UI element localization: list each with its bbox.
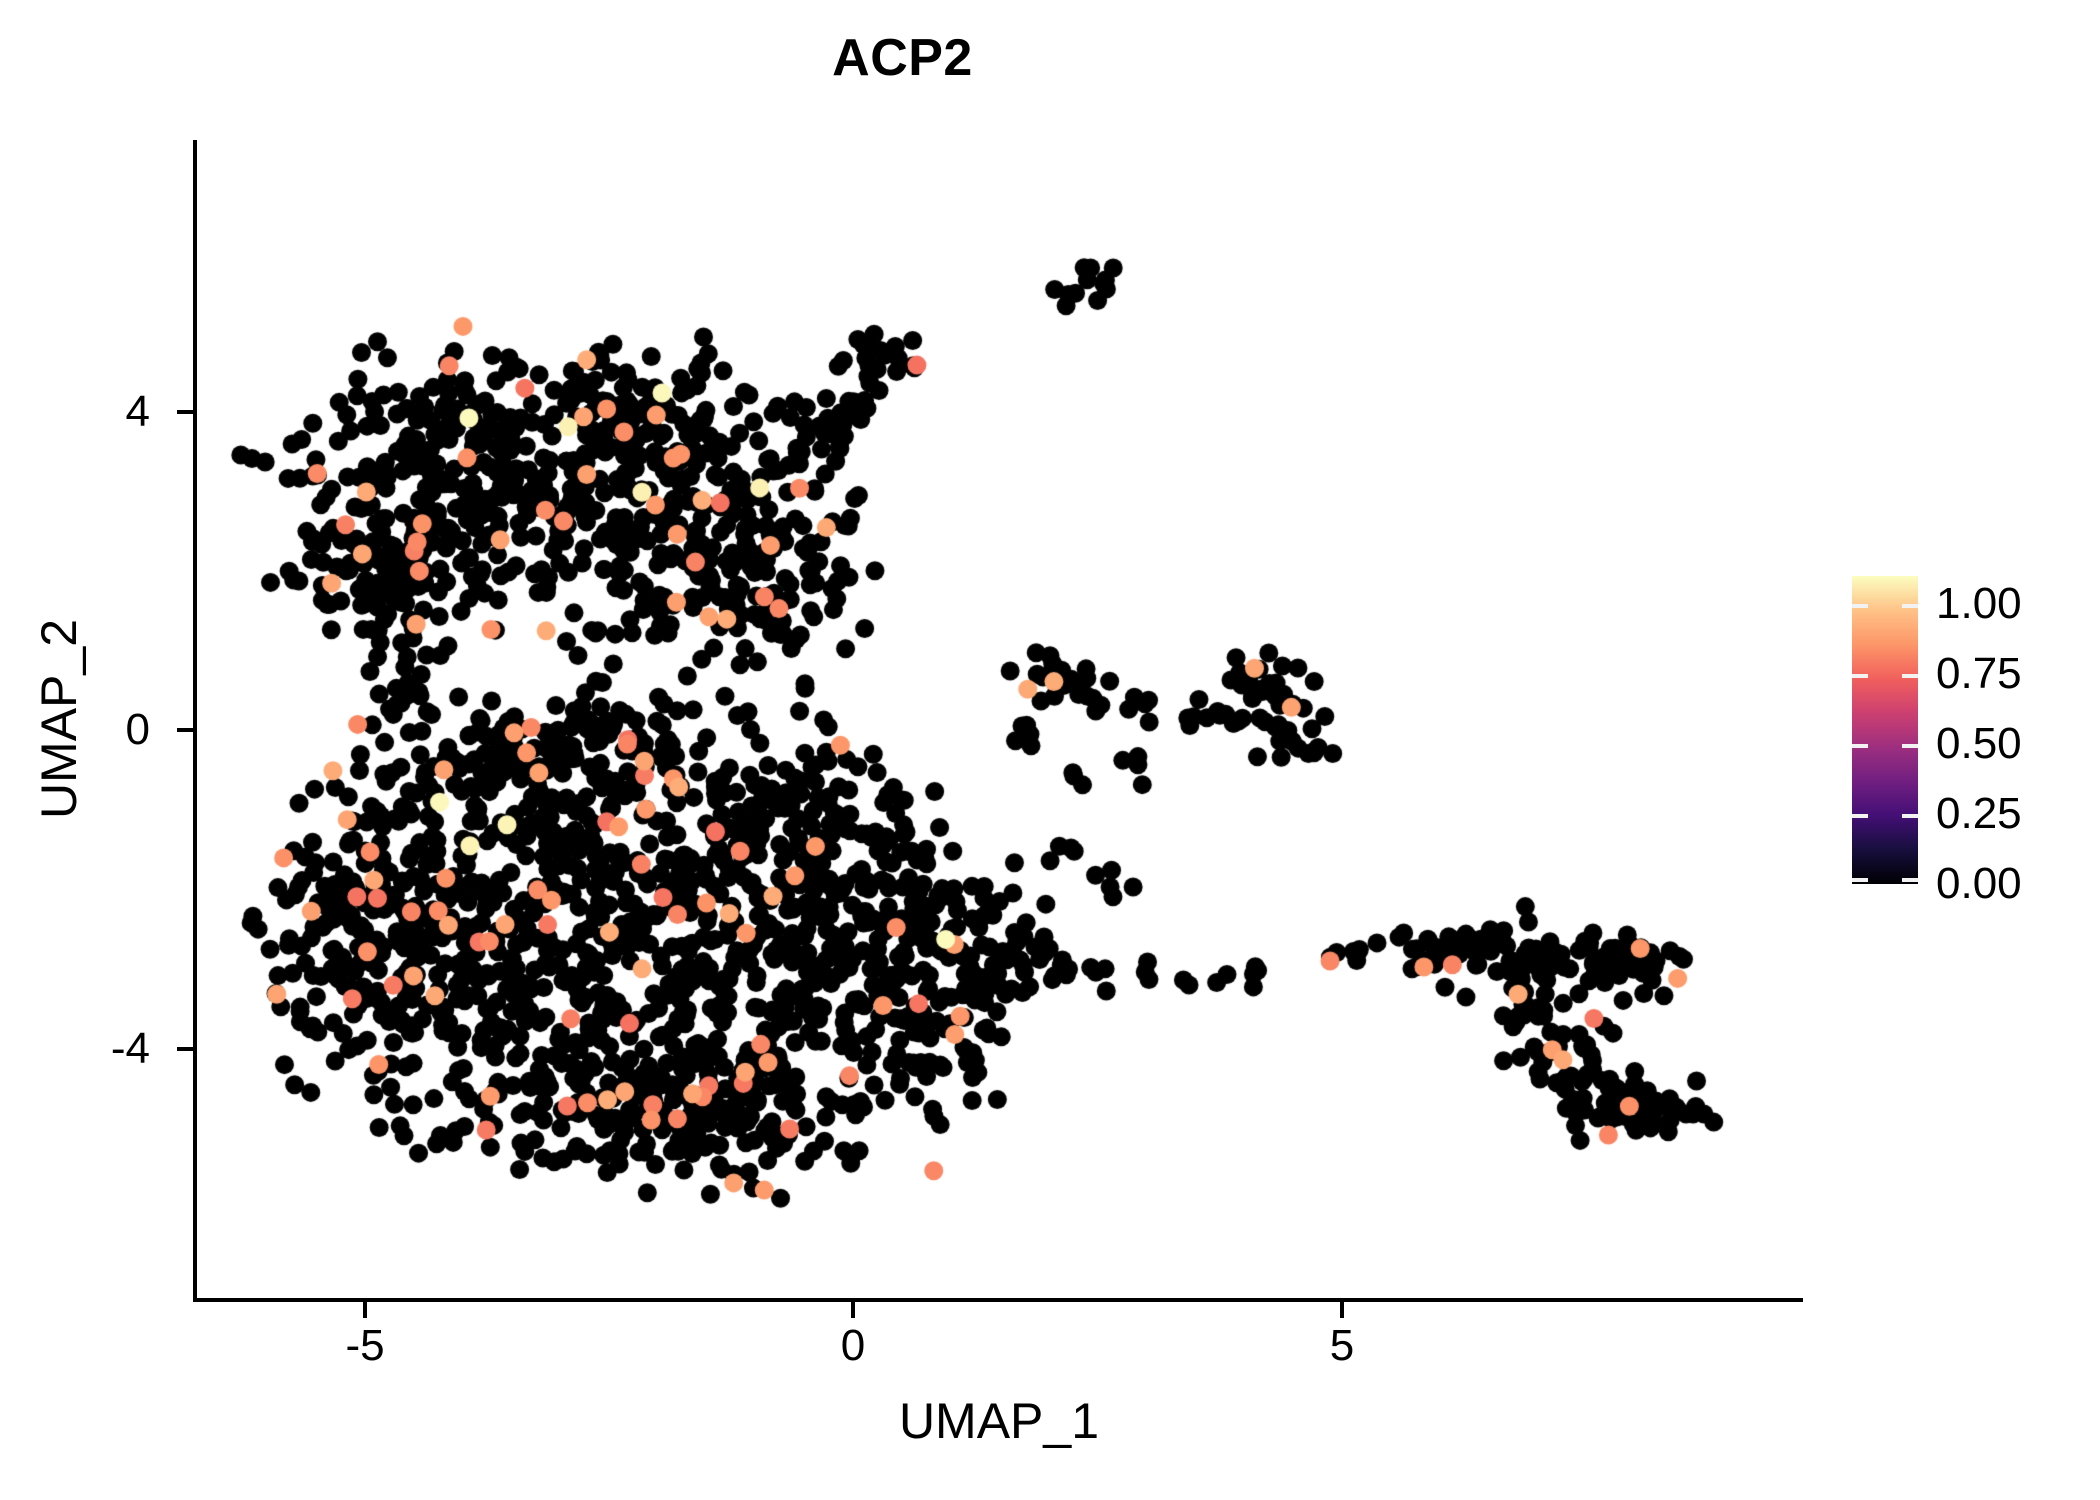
- y-tick-mark-neg4: [177, 1047, 193, 1051]
- y-axis-line: [193, 140, 197, 1302]
- x-tick-label-0: 0: [773, 1324, 933, 1368]
- x-tick-label-neg5: -5: [285, 1324, 445, 1368]
- colorbar-label-025: 0.25: [1936, 792, 2096, 836]
- colorbar-tick-1: [1852, 604, 1918, 608]
- x-axis-title: UMAP_1: [599, 1392, 1399, 1450]
- y-tick-mark-4: [177, 410, 193, 414]
- colorbar-label-075: 0.75: [1936, 652, 2096, 696]
- x-tick-label-5: 5: [1262, 1324, 1422, 1368]
- scatter-plot-canvas: [195, 140, 1803, 1300]
- x-tick-mark-neg5: [363, 1302, 367, 1318]
- colorbar-label-050: 0.50: [1936, 722, 2096, 766]
- colorbar-gradient: [1852, 576, 1918, 884]
- colorbar-tick-000: [1852, 878, 1918, 882]
- colorbar-tick-075: [1852, 674, 1918, 678]
- x-axis-line: [193, 1298, 1803, 1302]
- colorbar-tick-050: [1852, 744, 1918, 748]
- colorbar-legend: 1.00 0.75 0.50 0.25 0.00: [1852, 576, 2092, 896]
- colorbar-label-1: 1.00: [1936, 582, 2096, 626]
- x-tick-mark-0: [851, 1302, 855, 1318]
- x-tick-mark-5: [1340, 1302, 1344, 1318]
- figure-root: ACP2 4 0 -4 -5 0 5 UMAP_1 UMAP_2 1.00 0.…: [0, 0, 2100, 1500]
- y-tick-mark-0: [177, 728, 193, 732]
- y-axis-title: UMAP_2: [30, 319, 88, 1119]
- scatter-panel: [195, 140, 1803, 1300]
- colorbar-tick-025: [1852, 814, 1918, 818]
- page-title: ACP2: [0, 28, 1805, 88]
- colorbar-label-000: 0.00: [1936, 862, 2096, 906]
